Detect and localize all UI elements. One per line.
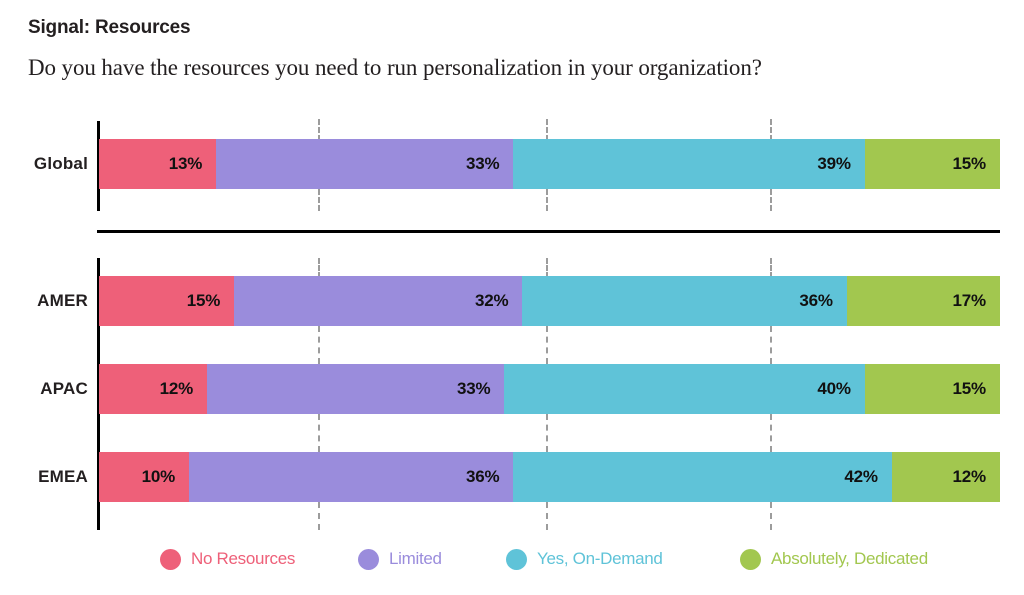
bar-segment: 17% bbox=[847, 276, 1000, 326]
gridline-50-regions-b bbox=[546, 326, 548, 364]
legend-item[interactable]: Absolutely, Dedicated bbox=[740, 543, 928, 575]
chart-legend: No ResourcesLimitedYes, On-DemandAbsolut… bbox=[0, 543, 1024, 583]
gridline-50-global-lower bbox=[546, 189, 548, 211]
bar-segment-value-label: 15% bbox=[953, 154, 1000, 174]
bar-segment-value-label: 13% bbox=[169, 154, 216, 174]
bar-segment: 12% bbox=[892, 452, 1000, 502]
table-row: Global 13%33%39%15% bbox=[0, 139, 1024, 189]
bar-segment-value-label: 15% bbox=[953, 379, 1000, 399]
bar-segment: 12% bbox=[99, 364, 207, 414]
bar-segment-value-label: 36% bbox=[466, 467, 513, 487]
table-row: EMEA 10%36%42%12% bbox=[0, 452, 1024, 502]
bar-segment: 32% bbox=[234, 276, 522, 326]
gridline-75-regions-b bbox=[770, 326, 772, 364]
page-title: Signal: Resources bbox=[28, 17, 190, 39]
bar-segment-value-label: 39% bbox=[817, 154, 864, 174]
legend-item[interactable]: No Resources bbox=[160, 543, 295, 575]
legend-swatch-circle-icon bbox=[506, 549, 527, 570]
bar-segment: 36% bbox=[189, 452, 513, 502]
gridline-25-regions-c bbox=[318, 414, 320, 452]
bar-segment: 13% bbox=[99, 139, 216, 189]
bar-segment: 42% bbox=[513, 452, 891, 502]
legend-item-label: Yes, On-Demand bbox=[537, 549, 663, 569]
row-label-amer: AMER bbox=[0, 276, 88, 326]
stacked-bar-apac: 12%33%40%15% bbox=[99, 364, 1000, 414]
stacked-bar-amer: 15%32%36%17% bbox=[99, 276, 1000, 326]
legend-item-label: No Resources bbox=[191, 549, 295, 569]
bar-segment-value-label: 32% bbox=[475, 291, 522, 311]
gridline-75-regions-c bbox=[770, 414, 772, 452]
row-label-apac: APAC bbox=[0, 364, 88, 414]
legend-item[interactable]: Limited bbox=[358, 543, 442, 575]
gridline-25-regions-b bbox=[318, 326, 320, 364]
bar-segment-value-label: 15% bbox=[187, 291, 234, 311]
row-label-emea: EMEA bbox=[0, 452, 88, 502]
bar-segment-value-label: 42% bbox=[844, 467, 891, 487]
group-separator bbox=[97, 230, 1000, 233]
bar-segment-value-label: 12% bbox=[160, 379, 207, 399]
bar-segment-value-label: 10% bbox=[142, 467, 189, 487]
bar-segment: 39% bbox=[513, 139, 864, 189]
gridline-50-regions-c bbox=[546, 414, 548, 452]
gridline-50-global bbox=[546, 119, 548, 141]
gridline-75-regions-d bbox=[770, 502, 772, 530]
gridline-50-regions-a bbox=[546, 258, 548, 278]
table-row: APAC 12%33%40%15% bbox=[0, 364, 1024, 414]
gridline-75-global-lower bbox=[770, 189, 772, 211]
gridline-75-regions-a bbox=[770, 258, 772, 278]
bar-segment-value-label: 33% bbox=[457, 379, 504, 399]
bar-segment: 36% bbox=[522, 276, 846, 326]
bar-segment-value-label: 17% bbox=[953, 291, 1000, 311]
bar-segment: 15% bbox=[99, 276, 234, 326]
gridline-75-global bbox=[770, 119, 772, 141]
gridline-50-regions-d bbox=[546, 502, 548, 530]
bar-segment-value-label: 12% bbox=[953, 467, 1000, 487]
bar-segment: 10% bbox=[99, 452, 189, 502]
bar-segment-value-label: 36% bbox=[799, 291, 846, 311]
legend-item[interactable]: Yes, On-Demand bbox=[506, 543, 663, 575]
legend-item-label: Absolutely, Dedicated bbox=[771, 549, 928, 569]
legend-item-label: Limited bbox=[389, 549, 442, 569]
table-row: AMER 15%32%36%17% bbox=[0, 276, 1024, 326]
bar-segment: 33% bbox=[207, 364, 504, 414]
legend-swatch-circle-icon bbox=[160, 549, 181, 570]
bar-segment-value-label: 33% bbox=[466, 154, 513, 174]
legend-swatch-circle-icon bbox=[358, 549, 379, 570]
stacked-bar-global: 13%33%39%15% bbox=[99, 139, 1000, 189]
gridline-25-regions-d bbox=[318, 502, 320, 530]
bar-segment: 40% bbox=[504, 364, 864, 414]
legend-swatch-circle-icon bbox=[740, 549, 761, 570]
bar-segment: 15% bbox=[865, 139, 1000, 189]
chart-question-subtitle: Do you have the resources you need to ru… bbox=[28, 55, 762, 81]
gridline-25-global-lower bbox=[318, 189, 320, 211]
stacked-bar-emea: 10%36%42%12% bbox=[99, 452, 1000, 502]
row-label-global: Global bbox=[0, 139, 88, 189]
bar-segment-value-label: 40% bbox=[817, 379, 864, 399]
gridline-25-global bbox=[318, 119, 320, 141]
bar-segment: 15% bbox=[865, 364, 1000, 414]
gridline-25-regions-a bbox=[318, 258, 320, 278]
bar-segment: 33% bbox=[216, 139, 513, 189]
